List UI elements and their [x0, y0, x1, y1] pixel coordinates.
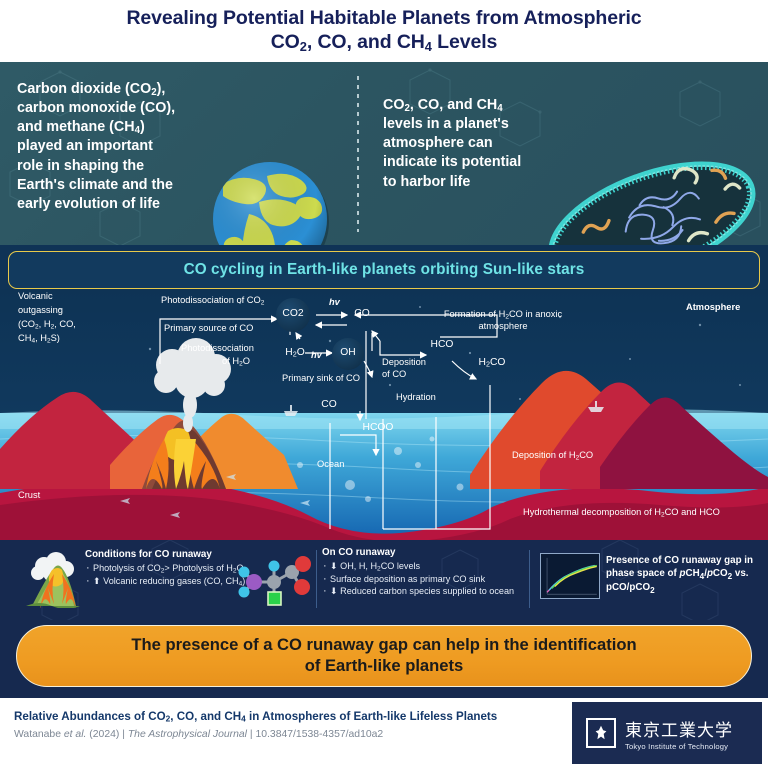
- label-atmosphere: Atmosphere: [686, 302, 740, 313]
- logo-japanese-name: 東京工業大学: [625, 716, 733, 741]
- label-primary-source-of-co: Primary source of CO: [164, 323, 253, 334]
- panel-2-item-2: Surface deposition as primary CO sink: [322, 573, 530, 585]
- panel-2-item-1: ⬇︎ OH, H, H2CO levels: [322, 560, 530, 574]
- node-hcoo: HCOO: [358, 422, 398, 433]
- earth-globe-icon: [205, 154, 335, 245]
- label-volcanic-4: CH4, H2S): [18, 333, 60, 345]
- label-crust: Crust: [18, 490, 40, 501]
- page-title: Revealing Potential Habitable Planets fr…: [126, 7, 641, 55]
- label-photodissociation-h2o-1: Photodissociation: [181, 343, 254, 354]
- conclusion-line-2: of Earth-like planets: [305, 656, 464, 675]
- label-volcanic-3: (CO2, H2, CO,: [18, 319, 76, 331]
- conclusion-banner: The presence of a CO runaway gap can hel…: [16, 625, 752, 687]
- label-deposition-h2co: Deposition of H2CO: [512, 450, 593, 462]
- tokyo-tech-mark-icon: [586, 718, 616, 748]
- title-line-2: CO2, CO, and CH4 Levels: [271, 31, 498, 53]
- label-hv-2: hv: [311, 350, 322, 361]
- intro-band: Carbon dioxide (CO2),carbon monoxide (CO…: [0, 62, 768, 245]
- intro-divider: [357, 76, 359, 232]
- intro-right-block: CO2, CO, and CH4levels in a planet'satmo…: [383, 96, 543, 192]
- conclusion-banner-zone: The presence of a CO runaway gap can hel…: [0, 620, 768, 698]
- diagram-header-text: CO cycling in Earth-like planets orbitin…: [184, 261, 585, 279]
- infographic-page: Revealing Potential Habitable Planets fr…: [0, 0, 768, 768]
- label-deposition-of-co-2: of CO: [382, 369, 406, 380]
- label-ocean: Ocean: [317, 459, 344, 470]
- label-deposition-of-co-1: Deposition: [382, 357, 426, 368]
- intro-left-text: Carbon dioxide (CO2),carbon monoxide (CO…: [17, 80, 207, 214]
- node-co-atmosphere: CO: [349, 308, 375, 319]
- panel-presence-of-co-runaway-gap: Presence of CO runaway gap in phase spac…: [606, 555, 758, 598]
- diagram-header-banner: CO cycling in Earth-like planets orbitin…: [8, 251, 760, 289]
- label-hv-1: hv: [329, 297, 340, 308]
- logo-english-name: Tokyo Institute of Technology: [625, 742, 733, 751]
- intro-right-text: CO2, CO, and CH4levels in a planet'satmo…: [383, 96, 543, 192]
- citation-doi[interactable]: 10.3847/1538-4357/ad10a2: [255, 729, 383, 740]
- label-primary-sink-of-co: Primary sink of CO: [282, 373, 360, 384]
- citation-year: (2024): [89, 729, 119, 740]
- node-h2co: H2CO: [474, 357, 510, 368]
- title-line-1: Revealing Potential Habitable Planets fr…: [126, 7, 641, 29]
- citation-journal: The Astrophysical Journal: [128, 729, 247, 740]
- label-volcanic-1: Volcanic: [18, 291, 53, 302]
- node-co-ocean: CO: [316, 399, 342, 410]
- node-hco: HCO: [428, 339, 456, 350]
- bacteria-cell-icon: [540, 150, 765, 245]
- node-h2o: H2O: [280, 347, 310, 358]
- title-band: Revealing Potential Habitable Planets fr…: [0, 0, 768, 62]
- label-photodissociation-h2o-2: of H2O: [222, 356, 250, 368]
- paper-citation: Watanabe et al. (2024) | The Astrophysic…: [14, 729, 383, 740]
- citation-etal: et al.: [64, 729, 87, 740]
- molecule-icon: [236, 554, 312, 606]
- label-hydrothermal-decomposition: Hydrothermal decomposition of H2CO and H…: [523, 507, 720, 519]
- label-formation-h2co: Formation of H2CO in anoxic atmosphere: [443, 309, 563, 332]
- panel-2-item-3: ⬇︎ Reduced carbon species supplied to oc…: [322, 585, 530, 597]
- panel-on-co-runaway: On CO runaway ⬇︎ OH, H, H2CO levels Surf…: [322, 547, 530, 597]
- co-cycling-diagram: CO cycling in Earth-like planets orbitin…: [0, 245, 768, 540]
- label-volcanic-2: outgassing: [18, 305, 63, 316]
- volcano-icon: [22, 552, 82, 608]
- label-hydration: Hydration: [396, 392, 436, 403]
- citation-sep-1: |: [122, 729, 125, 740]
- panel-2-title: On CO runaway: [322, 547, 530, 558]
- citation-authors: Watanabe: [14, 729, 61, 740]
- intro-left-block: Carbon dioxide (CO2),carbon monoxide (CO…: [17, 80, 207, 214]
- paper-title: Relative Abundances of CO2, CO, and CH4 …: [14, 710, 497, 724]
- institution-logo: 東京工業大学 Tokyo Institute of Technology: [572, 702, 762, 764]
- info-panels: Conditions for CO runaway Photolysis of …: [0, 540, 768, 620]
- label-photodissociation-co2: Photodissociation of CO2: [161, 295, 264, 307]
- citation-sep-2: |: [250, 729, 253, 740]
- conclusion-line-1: The presence of a CO runaway gap can hel…: [131, 635, 636, 654]
- phase-space-plot-icon: [540, 553, 600, 599]
- panel-divider-1: [316, 550, 317, 608]
- conclusion-text: The presence of a CO runaway gap can hel…: [131, 635, 636, 676]
- node-oh: OH: [332, 347, 364, 358]
- reaction-flow-arrows: [0, 289, 768, 540]
- node-co2: CO2: [276, 308, 310, 319]
- panel-3-text: Presence of CO runaway gap in phase spac…: [606, 555, 758, 597]
